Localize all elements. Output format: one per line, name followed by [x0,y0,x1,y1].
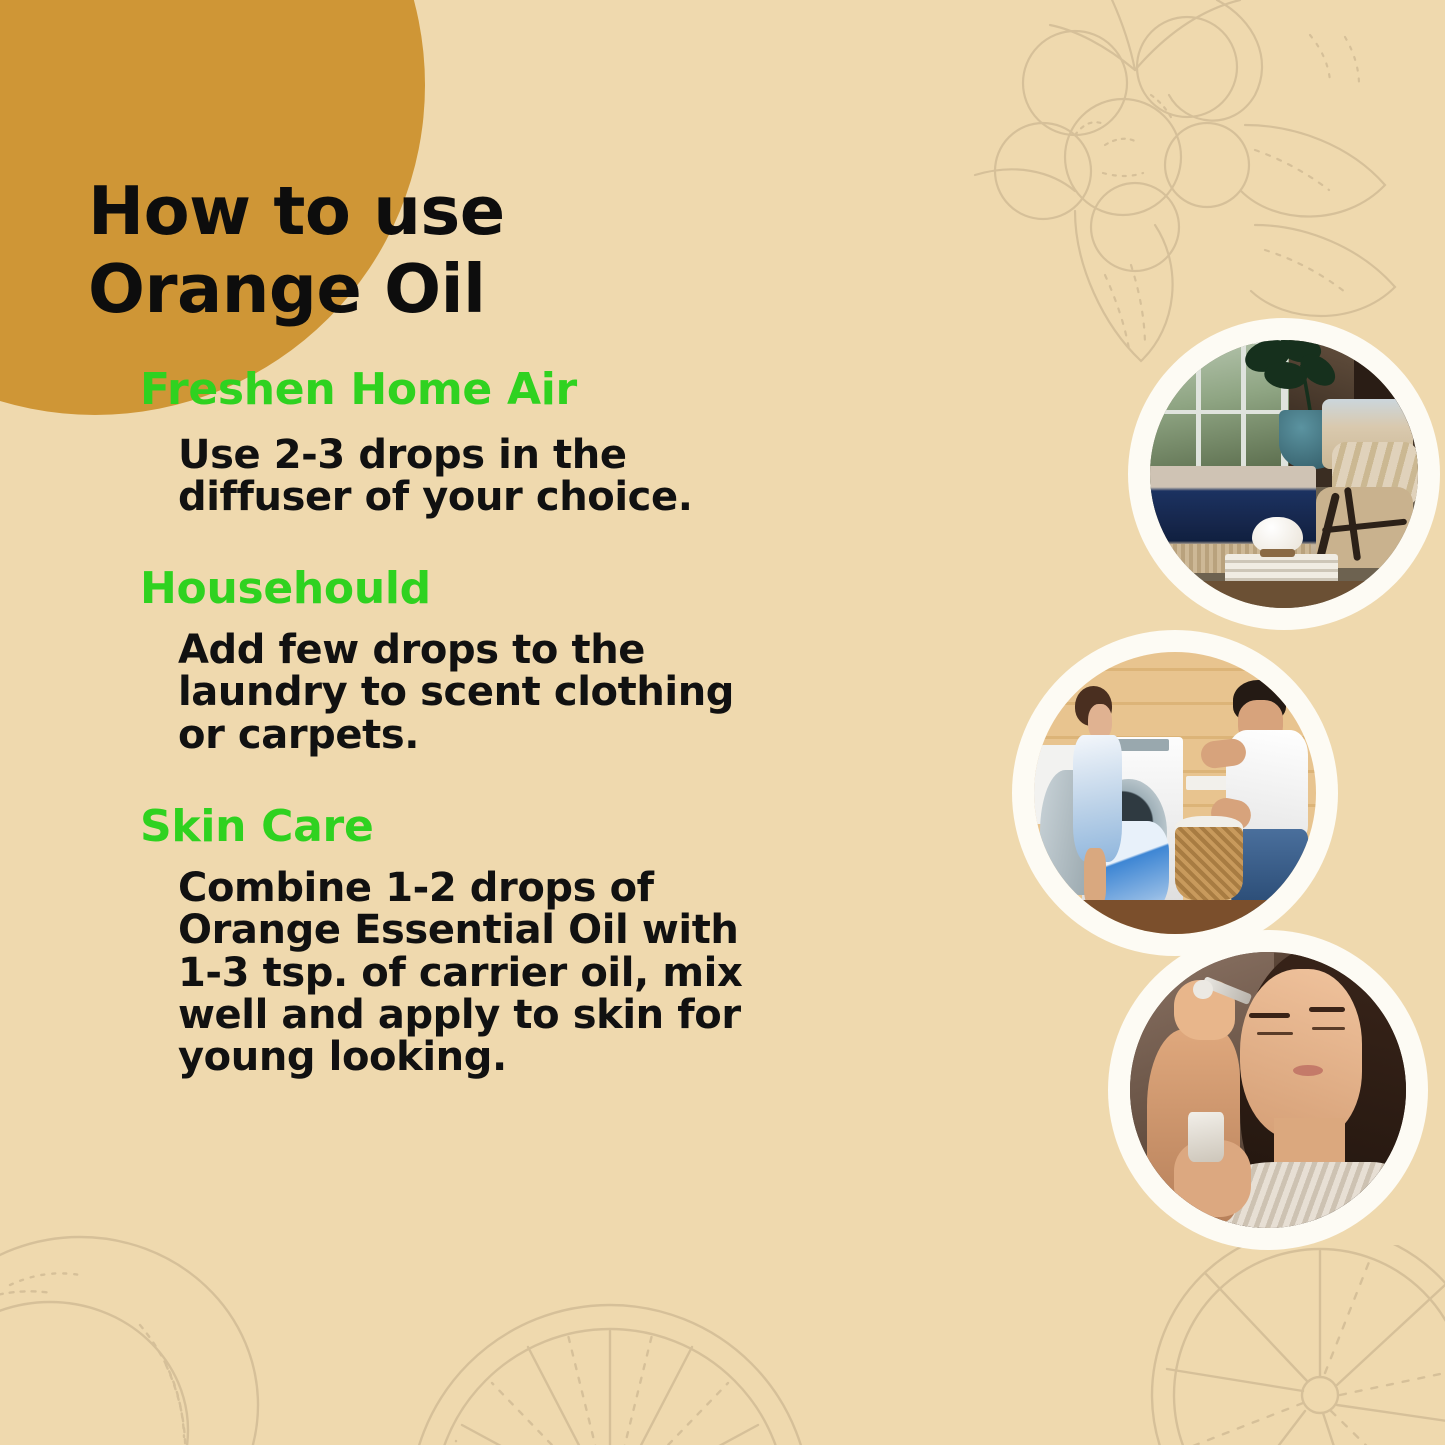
section-body-househould: Add few drops to the laundry to scent cl… [178,629,788,756]
photo-woman-applying-serum [1108,930,1428,1250]
section-freshen-home-air: Freshen Home Air Use 2-3 drops in the di… [0,365,820,518]
section-heading-freshen-home-air: Freshen Home Air [140,365,820,416]
page-title: How to use Orange Oil [88,173,708,328]
page-title-line-2: Orange Oil [88,251,708,329]
photo-laundry-father-daughter-image [1034,652,1316,934]
instructions-list: Freshen Home Air Use 2-3 drops in the di… [0,365,820,1107]
section-body-freshen-home-air: Use 2-3 drops in the diffuser of your ch… [178,434,788,519]
orange-wheel-slice-sketch-icon [1145,1245,1445,1445]
section-heading-househould: Househould [140,564,820,615]
section-skin-care: Skin Care Combine 1-2 drops of Orange Es… [0,802,820,1079]
page-title-line-1: How to use [88,172,505,250]
photo-woman-applying-serum-image [1130,952,1406,1228]
section-body-skin-care: Combine 1-2 drops of Orange Essential Oi… [178,867,788,1079]
whole-orange-sketch-icon [0,1215,320,1445]
photo-living-room-diffuser [1128,318,1440,630]
section-househould: Househould Add few drops to the laundry … [0,564,820,756]
orange-half-slice-sketch-icon [400,1255,820,1445]
photo-laundry-father-daughter [1012,630,1338,956]
photo-living-room-diffuser-image [1150,340,1418,608]
section-heading-skin-care: Skin Care [140,802,820,853]
infographic-canvas: How to use Orange Oil Freshen Home Air U… [0,0,1445,1445]
